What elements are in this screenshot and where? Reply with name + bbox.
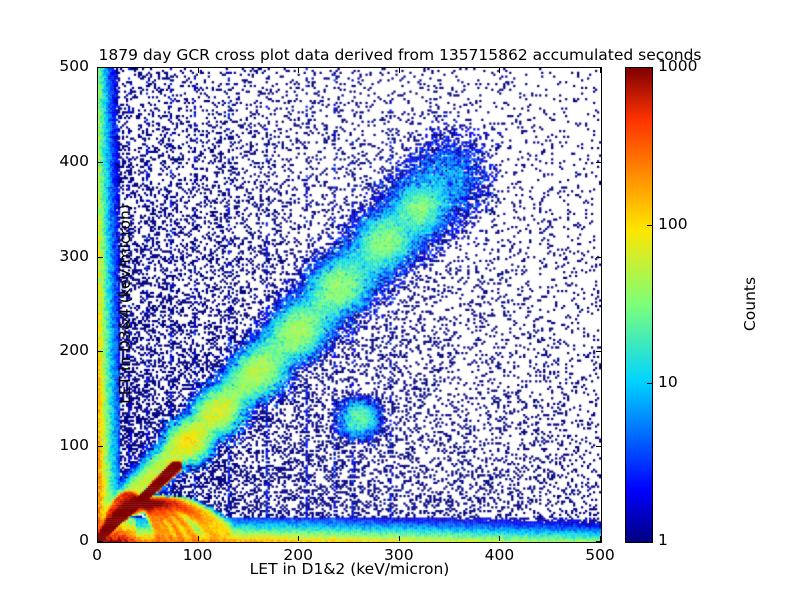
y-tick-label-100: 100	[5, 436, 89, 454]
y-tick-right-100	[596, 446, 601, 447]
x-tick-top-400	[499, 68, 500, 73]
y-tick-right-300	[596, 257, 601, 258]
figure-canvas: 1879 day GCR cross plot data derived fro…	[0, 0, 800, 600]
colorbar-tick-label-1: 1	[658, 531, 668, 549]
y-tick-500	[98, 67, 103, 68]
y-tick-label-0: 0	[5, 531, 89, 549]
y-axis-label: LET in D3&4 (keV/micron)	[116, 66, 134, 542]
y-tick-400	[98, 162, 103, 163]
y-tick-label-200: 200	[5, 341, 89, 359]
x-tick-top-0	[97, 68, 98, 73]
colorbar-label: Counts	[741, 154, 759, 454]
y-tick-label-300: 300	[5, 247, 89, 265]
colorbar-tick-label-100: 100	[658, 215, 688, 233]
y-tick-right-400	[596, 162, 601, 163]
y-tick-300	[98, 257, 103, 258]
x-axis-label: LET in D1&2 (keV/micron)	[97, 560, 602, 578]
y-tick-label-500: 500	[5, 57, 89, 75]
y-tick-200	[98, 351, 103, 352]
colorbar-gradient	[626, 68, 652, 542]
x-tick-top-300	[399, 68, 400, 73]
colorbar-tick-label-10: 10	[658, 373, 678, 391]
plot-area	[97, 67, 602, 543]
colorbar	[625, 67, 653, 543]
density-heatmap	[98, 68, 601, 542]
x-tick-200	[298, 536, 299, 541]
y-tick-100	[98, 446, 103, 447]
colorbar-tick-10	[647, 383, 652, 384]
y-tick-right-200	[596, 351, 601, 352]
y-tick-right-0	[596, 541, 601, 542]
y-tick-label-400: 400	[5, 152, 89, 170]
x-tick-top-200	[298, 68, 299, 73]
colorbar-tick-label-1000: 1000	[658, 57, 697, 75]
y-tick-0	[98, 541, 103, 542]
x-tick-top-500	[600, 68, 601, 73]
colorbar-tick-100	[647, 225, 652, 226]
x-tick-400	[499, 536, 500, 541]
x-tick-100	[198, 536, 199, 541]
x-tick-top-100	[198, 68, 199, 73]
y-tick-right-500	[596, 67, 601, 68]
x-tick-300	[399, 536, 400, 541]
